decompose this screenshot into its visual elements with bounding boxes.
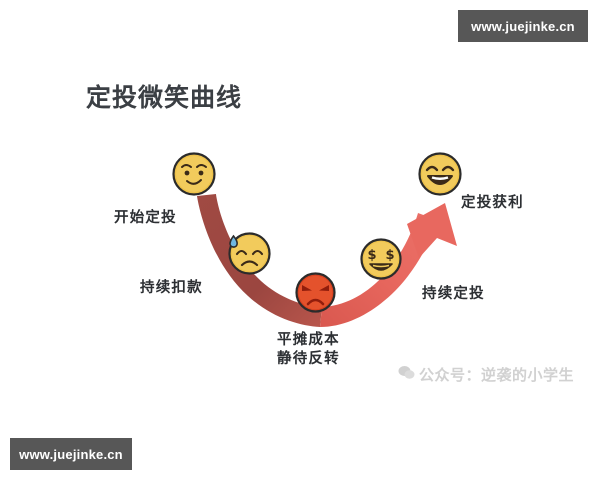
label-continuous-deduction: 持续扣款 bbox=[140, 279, 203, 298]
label-keep-investing: 持续定投 bbox=[422, 285, 485, 304]
wechat-logo-icon bbox=[398, 365, 415, 384]
account-watermark-text: 公众号：逆袭的小学生 bbox=[419, 364, 574, 385]
smile-curve-graphic bbox=[0, 0, 600, 480]
label-average-cost: 平摊成本 静待反转 bbox=[277, 331, 340, 369]
svg-text:$: $ bbox=[385, 248, 394, 263]
face-money-mouth: $ $ bbox=[359, 237, 403, 281]
svg-text:$: $ bbox=[367, 248, 376, 263]
face-laughing bbox=[417, 151, 463, 197]
face-smirking bbox=[171, 151, 217, 197]
label-start-investing: 开始定投 bbox=[114, 209, 177, 228]
face-sad-sweat bbox=[227, 231, 272, 276]
label-average-cost-line2: 静待反转 bbox=[277, 350, 340, 369]
smile-curve-infographic: www.juejinke.cn 定投微笑曲线 bbox=[0, 0, 600, 480]
label-investment-profit: 定投获利 bbox=[461, 194, 524, 213]
face-angry bbox=[294, 271, 337, 314]
label-average-cost-line1: 平摊成本 bbox=[277, 331, 340, 350]
watermark-badge-bottom: www.juejinke.cn bbox=[10, 438, 132, 470]
account-watermark: 公众号：逆袭的小学生 bbox=[398, 364, 574, 385]
